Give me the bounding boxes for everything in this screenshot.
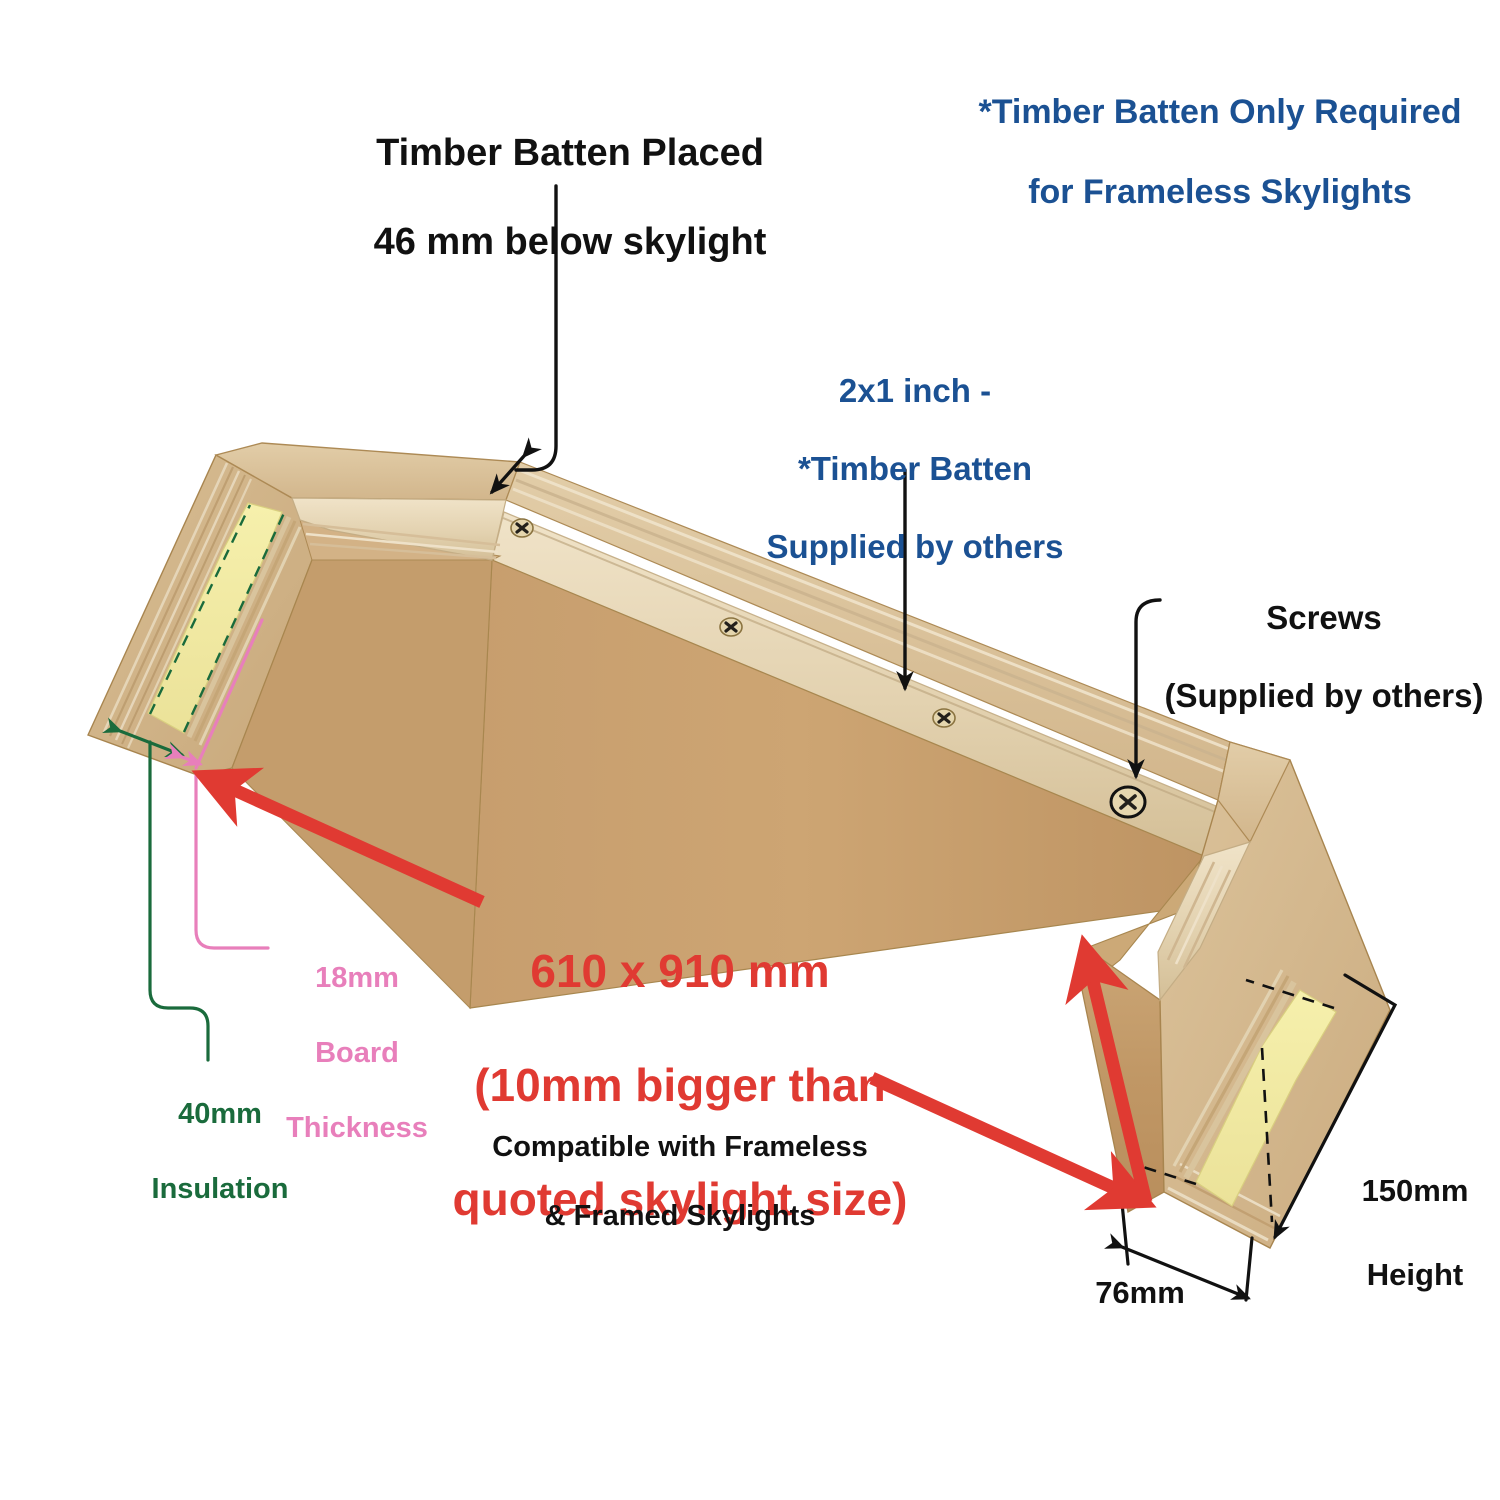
frameless-note-line1: *Timber Batten Only Required	[940, 92, 1500, 132]
board-thickness-line1: 18mm	[272, 960, 442, 998]
label-frameless-note: *Timber Batten Only Required for Framele…	[940, 52, 1500, 253]
width-line1: 76mm	[1050, 1275, 1230, 1312]
main-size-line1: 610 x 910 mm	[400, 943, 960, 1000]
label-batten-spec: 2x1 inch - *Timber Batten Supplied by ot…	[725, 333, 1105, 606]
height-line2: Height	[1330, 1254, 1500, 1296]
insulation-line2: Insulation	[125, 1171, 315, 1209]
label-compatible: Compatible with Frameless & Framed Skyli…	[460, 1096, 900, 1267]
dim-76mm-tick-right	[1246, 1238, 1252, 1300]
batten-spec-line1: 2x1 inch -	[725, 372, 1105, 411]
diagram-canvas: Timber Batten Placed 46 mm below skyligh…	[0, 0, 1500, 1500]
screws-line2: (Supplied by others)	[1148, 677, 1500, 716]
batten-placed-line2: 46 mm below skylight	[320, 220, 820, 265]
screw-icon-2	[720, 618, 742, 636]
batten-placed-line1: Timber Batten Placed	[320, 131, 820, 176]
batten-spec-line3: Supplied by others	[725, 528, 1105, 567]
screw-icon-3	[933, 709, 955, 727]
batten-spec-line2: *Timber Batten	[725, 450, 1105, 489]
label-height: 150mm Height	[1330, 1128, 1500, 1337]
frameless-note-line2: for Frameless Skylights	[940, 172, 1500, 212]
green-leader	[150, 742, 208, 1060]
label-insulation: 40mm Insulation	[125, 1058, 315, 1246]
screws-line1: Screws	[1148, 599, 1500, 638]
screw-icon-1	[511, 519, 533, 537]
height-line1: 150mm	[1330, 1170, 1500, 1212]
compatible-line1: Compatible with Frameless	[460, 1130, 900, 1164]
label-screws: Screws (Supplied by others)	[1148, 560, 1500, 755]
insulation-line1: 40mm	[125, 1096, 315, 1134]
screw-icon-4	[1111, 787, 1145, 817]
compatible-line2: & Framed Skylights	[460, 1199, 900, 1233]
label-timber-batten-placed: Timber Batten Placed 46 mm below skyligh…	[320, 86, 820, 310]
label-width: 76mm	[1050, 1238, 1230, 1348]
